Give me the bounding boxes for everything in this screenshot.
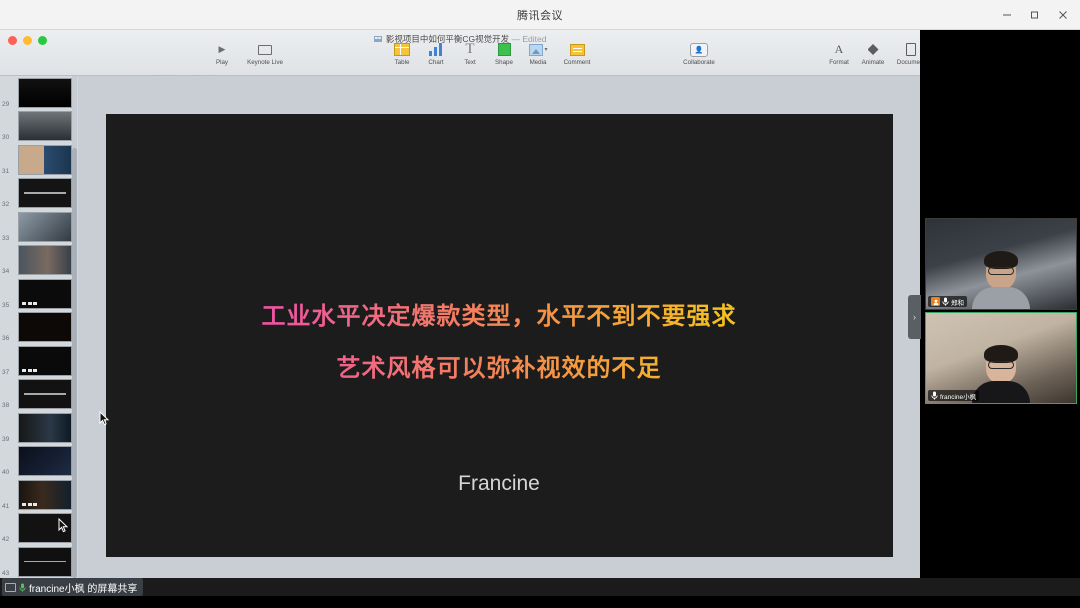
toolbar-collaborate-button[interactable]: 👤 Collaborate (672, 42, 726, 66)
keynote-toolbar: 影视项目中如何平衡CG视觉开发 — Edited ▶ Play Keynote … (0, 30, 920, 76)
participant-video-feed (970, 251, 1032, 309)
toolbar-animate-button[interactable]: Animate (856, 42, 890, 66)
slide-thumbnail-preview (18, 212, 72, 242)
slide-thumbnail-36[interactable]: 36 (0, 311, 78, 345)
slide-thumbnail-number: 33 (2, 235, 9, 242)
microphone-icon (19, 583, 26, 592)
participant-name-badge: 郑和 (928, 296, 967, 307)
shape-icon (495, 42, 514, 57)
toolbar-chart-button[interactable]: Chart (419, 42, 453, 66)
toolbar-group-inspector: A Format Animate Document (822, 42, 920, 66)
toolbar-format-label: Format (829, 60, 849, 66)
slide-thumbnail-41[interactable]: 41 (0, 478, 78, 512)
slide-thumbnail-preview (18, 145, 72, 175)
toolbar-play-button[interactable]: ▶ Play (205, 42, 239, 66)
mouse-cursor-secondary (58, 518, 69, 533)
participant-video-feed (970, 345, 1032, 403)
slide-thumbnail-number: 38 (2, 402, 9, 409)
slide-thumbnail-number: 36 (2, 335, 9, 342)
slide-thumbnail-preview (18, 111, 72, 141)
toolbar-text-label: Text (464, 60, 475, 66)
keynote-live-icon (256, 42, 275, 57)
participant-name-text: 郑和 (951, 297, 964, 307)
slide-thumbnail-preview (18, 346, 72, 376)
slide-thumbnail-preview (18, 312, 72, 342)
toolbar-group-collaborate: 👤 Collaborate (672, 42, 726, 66)
slide-thumbnail-38[interactable]: 38 (0, 378, 78, 412)
toolbar-keynote-live-button[interactable]: Keynote Live (239, 42, 291, 66)
navigator-scrollbar-thumb[interactable] (72, 148, 77, 578)
toolbar-collaborate-label: Collaborate (683, 60, 715, 66)
toolbar-group-play: ▶ Play Keynote Live (205, 42, 291, 66)
slide-thumbnail-preview (18, 279, 72, 309)
meeting-title-bar: 腾讯会议 (0, 0, 1080, 30)
toolbar-document-button[interactable]: Document (890, 42, 920, 66)
participant-name-badge: francine小枫 (928, 390, 979, 401)
toolbar-table-label: Table (395, 60, 410, 66)
comment-icon (568, 42, 587, 57)
toolbar-chart-label: Chart (428, 60, 443, 66)
slide-headline-2: 艺术风格可以弥补视效的不足 (106, 348, 893, 383)
format-icon: A (830, 42, 849, 57)
slide-thumbnail-number: 40 (2, 469, 9, 476)
toolbar-shape-button[interactable]: Shape (487, 42, 521, 66)
toolbar-format-button[interactable]: A Format (822, 42, 856, 66)
chart-icon (427, 42, 446, 57)
slide-thumbnail-preview (18, 547, 72, 577)
slide-canvas[interactable]: 工业水平决定爆款类型，水平不到不要强求 艺术风格可以弥补视效的不足 Franci… (78, 76, 920, 595)
screen-share-indicator[interactable]: francine小枫 的屏幕共享 (2, 578, 143, 596)
slide-thumbnail-number: 34 (2, 268, 9, 275)
slide-thumbnail-number: 41 (2, 503, 9, 510)
participant-video-tile[interactable]: 郑和 (925, 218, 1077, 310)
toolbar-document-label: Document (897, 60, 920, 66)
collaborate-icon: 👤 (690, 42, 709, 57)
slide-thumbnail-preview (18, 379, 72, 409)
document-file-icon (374, 35, 382, 43)
shared-screen-area: 影视项目中如何平衡CG视觉开发 — Edited ▶ Play Keynote … (0, 30, 920, 596)
slide-headline-1: 工业水平决定爆款类型，水平不到不要强求 (106, 296, 893, 331)
slide-thumbnail-30[interactable]: 30 (0, 110, 78, 144)
toolbar-play-label: Play (216, 60, 228, 66)
toolbar-comment-button[interactable]: Comment (555, 42, 599, 66)
window-controls (994, 0, 1076, 30)
panel-collapse-toggle[interactable]: › (908, 295, 921, 339)
slide-thumbnail-preview (18, 78, 72, 108)
media-icon: ▾ (529, 42, 548, 57)
slide-thumbnail-34[interactable]: 34 (0, 244, 78, 278)
current-slide[interactable]: 工业水平决定爆款类型，水平不到不要强求 艺术风格可以弥补视效的不足 Franci… (106, 114, 893, 557)
bottom-letterbox (0, 596, 1080, 608)
toolbar-keynote-live-label: Keynote Live (247, 60, 283, 66)
slide-thumbnail-number: 42 (2, 536, 9, 543)
slide-thumbnail-number: 30 (2, 134, 9, 141)
slide-thumbnail-number: 37 (2, 369, 9, 376)
screen-share-status-bar: francine小枫 的屏幕共享 (0, 578, 1080, 596)
slide-thumbnail-39[interactable]: 39 (0, 411, 78, 445)
microphone-icon (942, 297, 949, 306)
slide-thumbnail-number: 29 (2, 101, 9, 108)
maximize-icon[interactable] (1022, 3, 1048, 27)
slide-thumbnail-40[interactable]: 40 (0, 445, 78, 479)
participant-name-text: francine小枫 (940, 391, 976, 401)
screen-share-status-text: francine小枫 的屏幕共享 (29, 580, 137, 595)
host-icon (931, 297, 940, 306)
toolbar-text-button[interactable]: T Text (453, 42, 487, 66)
slide-thumbnail-number: 39 (2, 436, 9, 443)
slide-thumbnail-number: 32 (2, 201, 9, 208)
toolbar-animate-label: Animate (862, 60, 885, 66)
slide-thumbnail-number: 31 (2, 168, 9, 175)
slide-thumbnail-33[interactable]: 33 (0, 210, 78, 244)
meeting-window-title: 腾讯会议 (517, 7, 563, 23)
screen-share-icon (5, 583, 16, 592)
participant-video-strip: 郑和francine小枫 (925, 218, 1077, 404)
slide-thumbnail-number: 43 (2, 570, 9, 577)
minimize-icon[interactable] (994, 3, 1020, 27)
slide-thumbnail-29[interactable]: 29 (0, 76, 78, 110)
animate-icon (864, 42, 883, 57)
slide-thumbnail-number: 35 (2, 302, 9, 309)
toolbar-table-button[interactable]: Table (385, 42, 419, 66)
slide-thumbnail-preview (18, 245, 72, 275)
slide-thumbnail-preview (18, 413, 72, 443)
keynote-window: 影视项目中如何平衡CG视觉开发 — Edited ▶ Play Keynote … (0, 30, 920, 595)
slide-author: Francine (106, 472, 893, 496)
slide-thumbnail-31[interactable]: 31 (0, 143, 78, 177)
slide-thumbnail-preview (18, 178, 72, 208)
slide-thumbnail-preview (18, 446, 72, 476)
app-root: 腾讯会议 影视项目中如何 (0, 0, 1080, 608)
participant-video-tile[interactable]: francine小枫 (925, 312, 1077, 404)
toolbar-group-insert: Table Chart T Text Shape (385, 42, 599, 66)
slide-thumbnail-preview (18, 480, 72, 510)
slide-thumbnail-35[interactable]: 35 (0, 277, 78, 311)
toolbar-comment-label: Comment (564, 60, 591, 66)
slide-thumbnail-32[interactable]: 32 (0, 177, 78, 211)
text-icon: T (461, 42, 480, 57)
play-icon: ▶ (213, 42, 232, 57)
document-icon (902, 42, 921, 57)
toolbar-shape-label: Shape (495, 60, 513, 66)
slide-thumbnail-43[interactable]: 43 (0, 545, 78, 579)
slide-thumbnail-37[interactable]: 37 (0, 344, 78, 378)
table-icon (393, 42, 412, 57)
close-icon[interactable] (1050, 3, 1076, 27)
toolbar-media-label: Media (530, 60, 547, 66)
keynote-body: 29303132333435363738394041424344 工业水平决定爆… (0, 76, 920, 595)
microphone-icon (931, 391, 938, 400)
toolbar-media-button[interactable]: ▾ Media (521, 42, 555, 66)
